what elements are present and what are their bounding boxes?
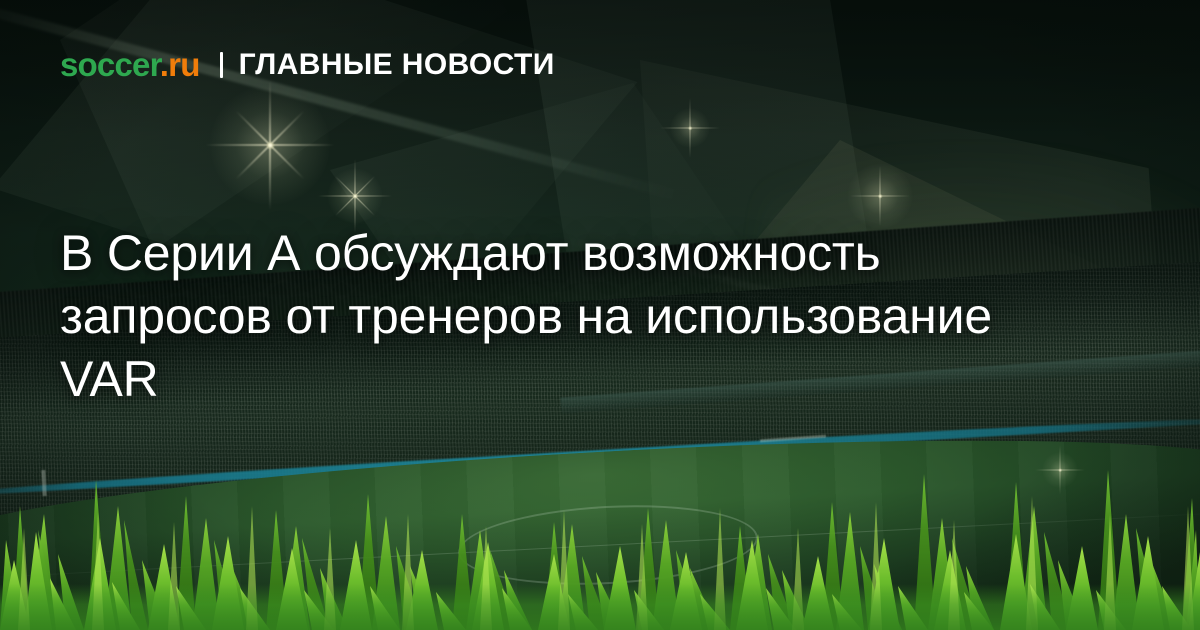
social-share-card: soccer.ru ГЛАВНЫЕ НОВОСТИ В Серии А обсу… xyxy=(0,0,1200,630)
section-label: ГЛАВНЫЕ НОВОСТИ xyxy=(239,50,555,80)
card-header: soccer.ru ГЛАВНЫЕ НОВОСТИ xyxy=(60,48,555,81)
logo-text-suffix: .ru xyxy=(160,46,200,83)
page-title: В Серии А обсуждают возможность запросов… xyxy=(60,222,1100,411)
header-divider xyxy=(220,52,223,78)
site-logo[interactable]: soccer.ru xyxy=(60,48,200,81)
logo-text-primary: soccer xyxy=(60,46,160,83)
